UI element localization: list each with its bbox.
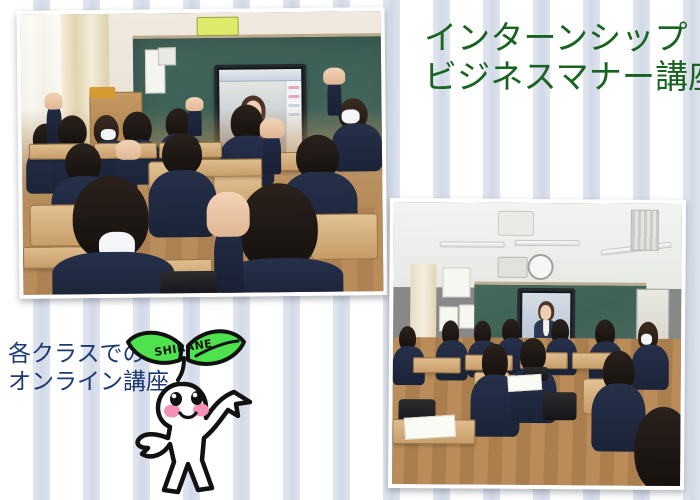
student-hand-foreground <box>206 192 250 237</box>
photo-classroom-wide <box>388 198 686 490</box>
worksheet-paper <box>403 415 455 440</box>
photo-classroom-hands <box>17 7 388 299</box>
wall-control-box <box>158 47 176 66</box>
mascot-eye-right <box>191 391 203 405</box>
shirane-mascot: SHIRANE <box>118 312 278 500</box>
student-hand <box>185 97 203 111</box>
face-mask <box>101 129 116 140</box>
student-body <box>632 345 670 390</box>
wall-clock <box>527 254 553 280</box>
chair-back <box>311 213 378 260</box>
student-desk <box>195 158 262 177</box>
title-line-2: ビジネスマナー講座 <box>424 59 700 96</box>
wall-speaker <box>497 256 528 278</box>
main-title: インターンシップ ビジネスマナー講座 <box>424 20 700 96</box>
ceiling-light <box>515 239 580 245</box>
photo-classroom-hands-image <box>21 11 384 295</box>
title-line-1: インターンシップ <box>424 20 700 57</box>
mascot-cheek-left <box>164 405 180 418</box>
student-body-foreground <box>52 251 175 295</box>
photo-classroom-wide-image <box>392 202 682 486</box>
wall-sign <box>197 17 239 36</box>
mascot-eye-left <box>170 392 182 406</box>
school-bag <box>542 392 577 420</box>
student-desk <box>413 357 461 373</box>
school-bag <box>160 270 218 294</box>
video-call-toolbar <box>219 69 302 82</box>
ceiling-projector <box>497 211 534 236</box>
student-hand <box>259 119 284 139</box>
cabinet-item <box>90 87 115 98</box>
student-hand <box>45 93 63 110</box>
speaker-face <box>541 305 552 320</box>
wall-poster <box>442 267 470 297</box>
ceiling-light <box>440 242 505 248</box>
face-mask <box>641 333 653 344</box>
student-hand <box>115 140 140 160</box>
poster-canvas: インターンシップ ビジネスマナー講座 各クラスでの オンライン講座 SHIRAN… <box>0 0 700 500</box>
student-body <box>331 123 382 171</box>
student-hand <box>324 67 346 84</box>
worksheet-paper <box>507 374 542 392</box>
ceiling-duct <box>631 209 659 251</box>
student-arm <box>263 133 281 175</box>
face-mask <box>342 109 360 123</box>
